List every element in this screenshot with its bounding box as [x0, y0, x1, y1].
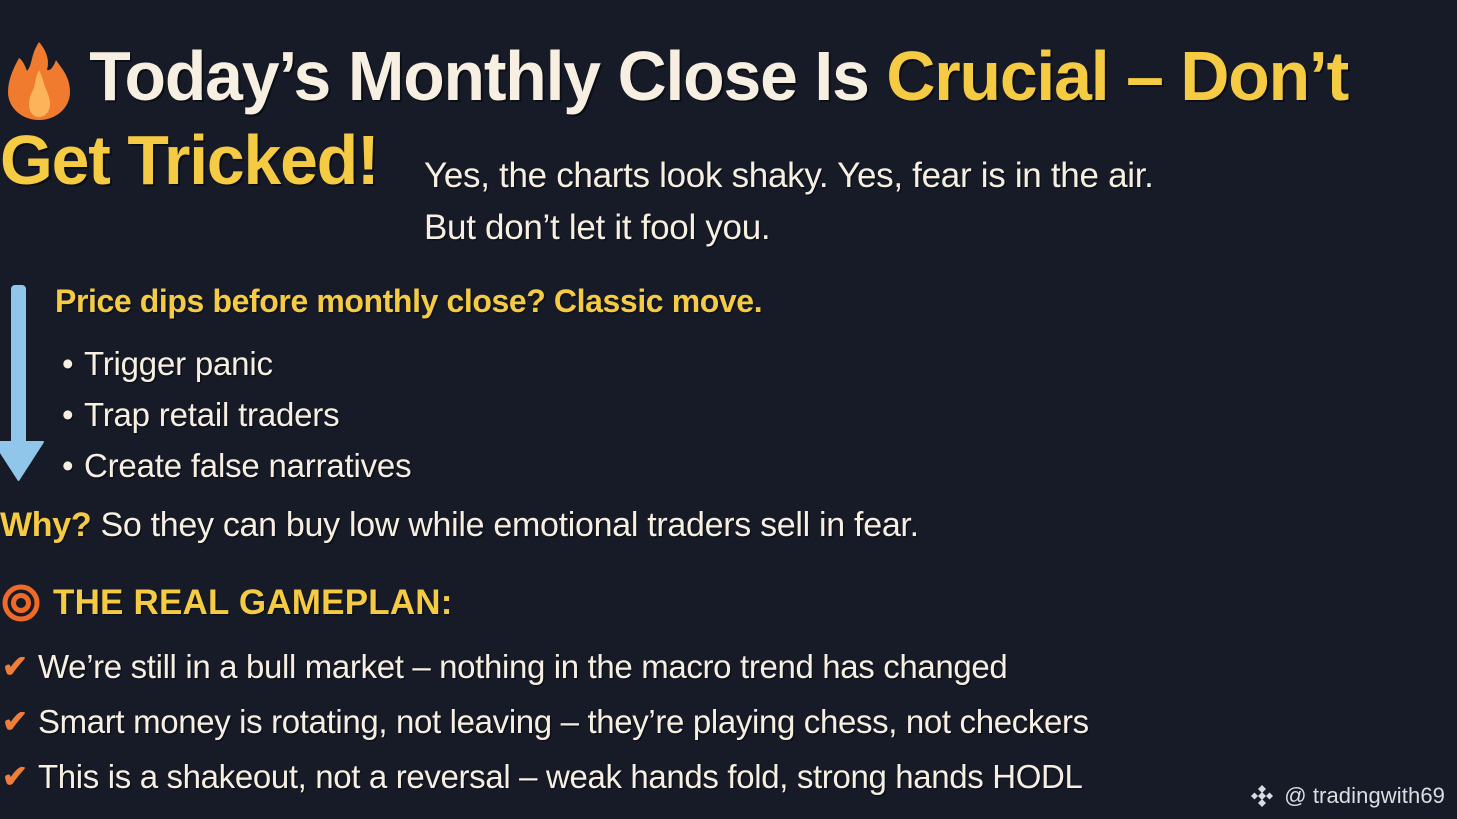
why-text: So they can buy low while emotional trad… [91, 506, 918, 544]
subtitle-block: Yes, the charts look shaky. Yes, fear is… [424, 150, 1424, 254]
subtitle-line-1: Yes, the charts look shaky. Yes, fear is… [424, 150, 1424, 202]
down-arrow-icon [0, 284, 50, 484]
watermark-handle: @ tradingwith69 [1284, 783, 1445, 809]
why-line: Why? So they can buy low while emotional… [0, 506, 919, 545]
checklist-text: We’re still in a bull market – nothing i… [38, 645, 1007, 689]
checklist-text: This is a shakeout, not a reversal – wea… [38, 755, 1083, 799]
bullet-marker: • [62, 440, 84, 491]
dips-heading: Price dips before monthly close? Classic… [55, 283, 762, 320]
list-item: ✔ This is a shakeout, not a reversal – w… [2, 755, 1089, 810]
gameplan-heading: THE REAL GAMEPLAN: [2, 583, 453, 623]
check-icon: ✔ [2, 755, 28, 799]
headline-cream-part: Today’s Monthly Close Is [89, 37, 886, 115]
bullet-marker: • [62, 338, 84, 389]
why-label: Why? [0, 506, 91, 544]
subtitle-line-2: But don’t let it fool you. [424, 202, 1424, 254]
list-item: •Create false narratives [62, 440, 411, 491]
watermark: @ tradingwith69 [1249, 783, 1445, 809]
headline-gold-part: Crucial – Don’t [886, 37, 1348, 115]
gameplan-title: THE REAL GAMEPLAN: [53, 583, 453, 623]
dips-bullet-list: •Trigger panic •Trap retail traders •Cre… [62, 338, 411, 491]
check-icon: ✔ [2, 700, 28, 744]
check-icon: ✔ [2, 645, 28, 689]
checklist-text: Smart money is rotating, not leaving – t… [38, 700, 1089, 744]
target-icon [2, 584, 40, 622]
binance-diamond-icon [1249, 783, 1275, 809]
bullet-marker: • [62, 389, 84, 440]
slide-canvas: Today’s Monthly Close Is Crucial – Don’t… [0, 0, 1457, 819]
headline-line-1: Today’s Monthly Close Is Crucial – Don’t [0, 34, 1413, 118]
list-item: •Trigger panic [62, 338, 411, 389]
list-item: •Trap retail traders [62, 389, 411, 440]
list-item: ✔ Smart money is rotating, not leaving –… [2, 700, 1089, 755]
bullet-text: Create false narratives [84, 447, 411, 484]
bullet-text: Trap retail traders [84, 396, 339, 433]
gameplan-checklist: ✔ We’re still in a bull market – nothing… [2, 645, 1089, 810]
list-item: ✔ We’re still in a bull market – nothing… [2, 645, 1089, 700]
bullet-text: Trigger panic [84, 345, 273, 382]
